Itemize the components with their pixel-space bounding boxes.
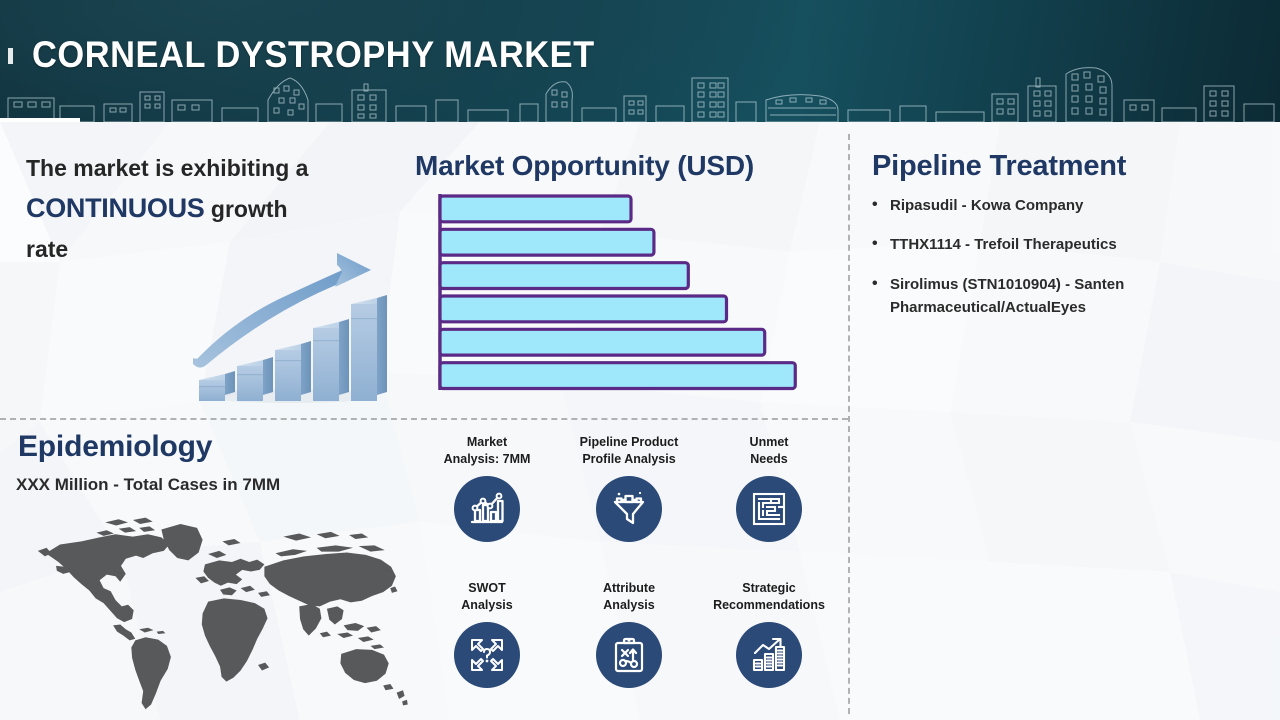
vertical-divider [848, 134, 850, 714]
services-icon-grid: Market Analysis: 7MM [412, 434, 844, 720]
service-label: Attribute Analysis [554, 580, 704, 615]
bar [440, 229, 654, 255]
bar [440, 296, 727, 322]
service-swot-analysis[interactable]: SWOT Analysis [412, 580, 562, 688]
service-unmet-needs[interactable]: Unmet Needs [694, 434, 844, 542]
service-label: Market Analysis: 7MM [412, 434, 562, 469]
market-opportunity-title: Market Opportunity (USD) [415, 150, 754, 182]
service-strategic-recommendations[interactable]: Strategic Recommendations [694, 580, 844, 688]
growth-highlight: CONTINUOUS [26, 193, 205, 223]
list-item: Ripasudil - Kowa Company [872, 194, 1262, 217]
growth-line-1: The market is exhibiting a [26, 155, 308, 181]
pipeline-treatment-list: Ripasudil - Kowa Company TTHX1114 - Tref… [872, 194, 1262, 335]
service-label: SWOT Analysis [412, 580, 562, 615]
service-label: Pipeline Product Profile Analysis [554, 434, 704, 469]
service-pipeline-product-profile-analysis[interactable]: Pipeline Product Profile Analysis [554, 434, 704, 542]
page-header: CORNEAL DYSTROPHY MARKET [0, 0, 1280, 122]
market-opportunity-bar-chart [432, 192, 832, 392]
funnel-filter-icon [596, 476, 662, 542]
growth-bars-arrow-icon [736, 622, 802, 688]
bar [440, 363, 795, 389]
maze-icon [736, 476, 802, 542]
list-item: Sirolimus (STN1010904) - Santen Pharmace… [872, 273, 1262, 320]
clipboard-strategy-icon [596, 622, 662, 688]
growth-line-2: growth [205, 196, 288, 222]
service-market-analysis[interactable]: Market Analysis: 7MM [412, 434, 562, 542]
bar [440, 263, 688, 289]
service-attribute-analysis[interactable]: Attribute Analysis [554, 580, 704, 688]
growth-line-3: rate [26, 236, 68, 262]
bar [440, 196, 631, 222]
service-label: Strategic Recommendations [694, 580, 844, 615]
bar-line-chart-icon [454, 476, 520, 542]
epidemiology-title: Epidemiology [18, 430, 212, 464]
service-label: Unmet Needs [694, 434, 844, 469]
pipeline-treatment-title: Pipeline Treatment [872, 150, 1126, 183]
page-title: CORNEAL DYSTROPHY MARKET [32, 34, 595, 76]
epidemiology-subtitle: XXX Million - Total Cases in 7MM [16, 475, 280, 495]
content-stage: The market is exhibiting a CONTINUOUS gr… [0, 122, 1280, 720]
four-arrows-question-icon [454, 622, 520, 688]
bar [440, 329, 765, 355]
world-map-icon [22, 502, 422, 717]
growth-bar-chart-arrow-icon [185, 250, 395, 405]
header-accent-tick [8, 48, 13, 64]
list-item: TTHX1114 - Trefoil Therapeutics [872, 233, 1262, 256]
horizontal-divider [0, 418, 848, 420]
